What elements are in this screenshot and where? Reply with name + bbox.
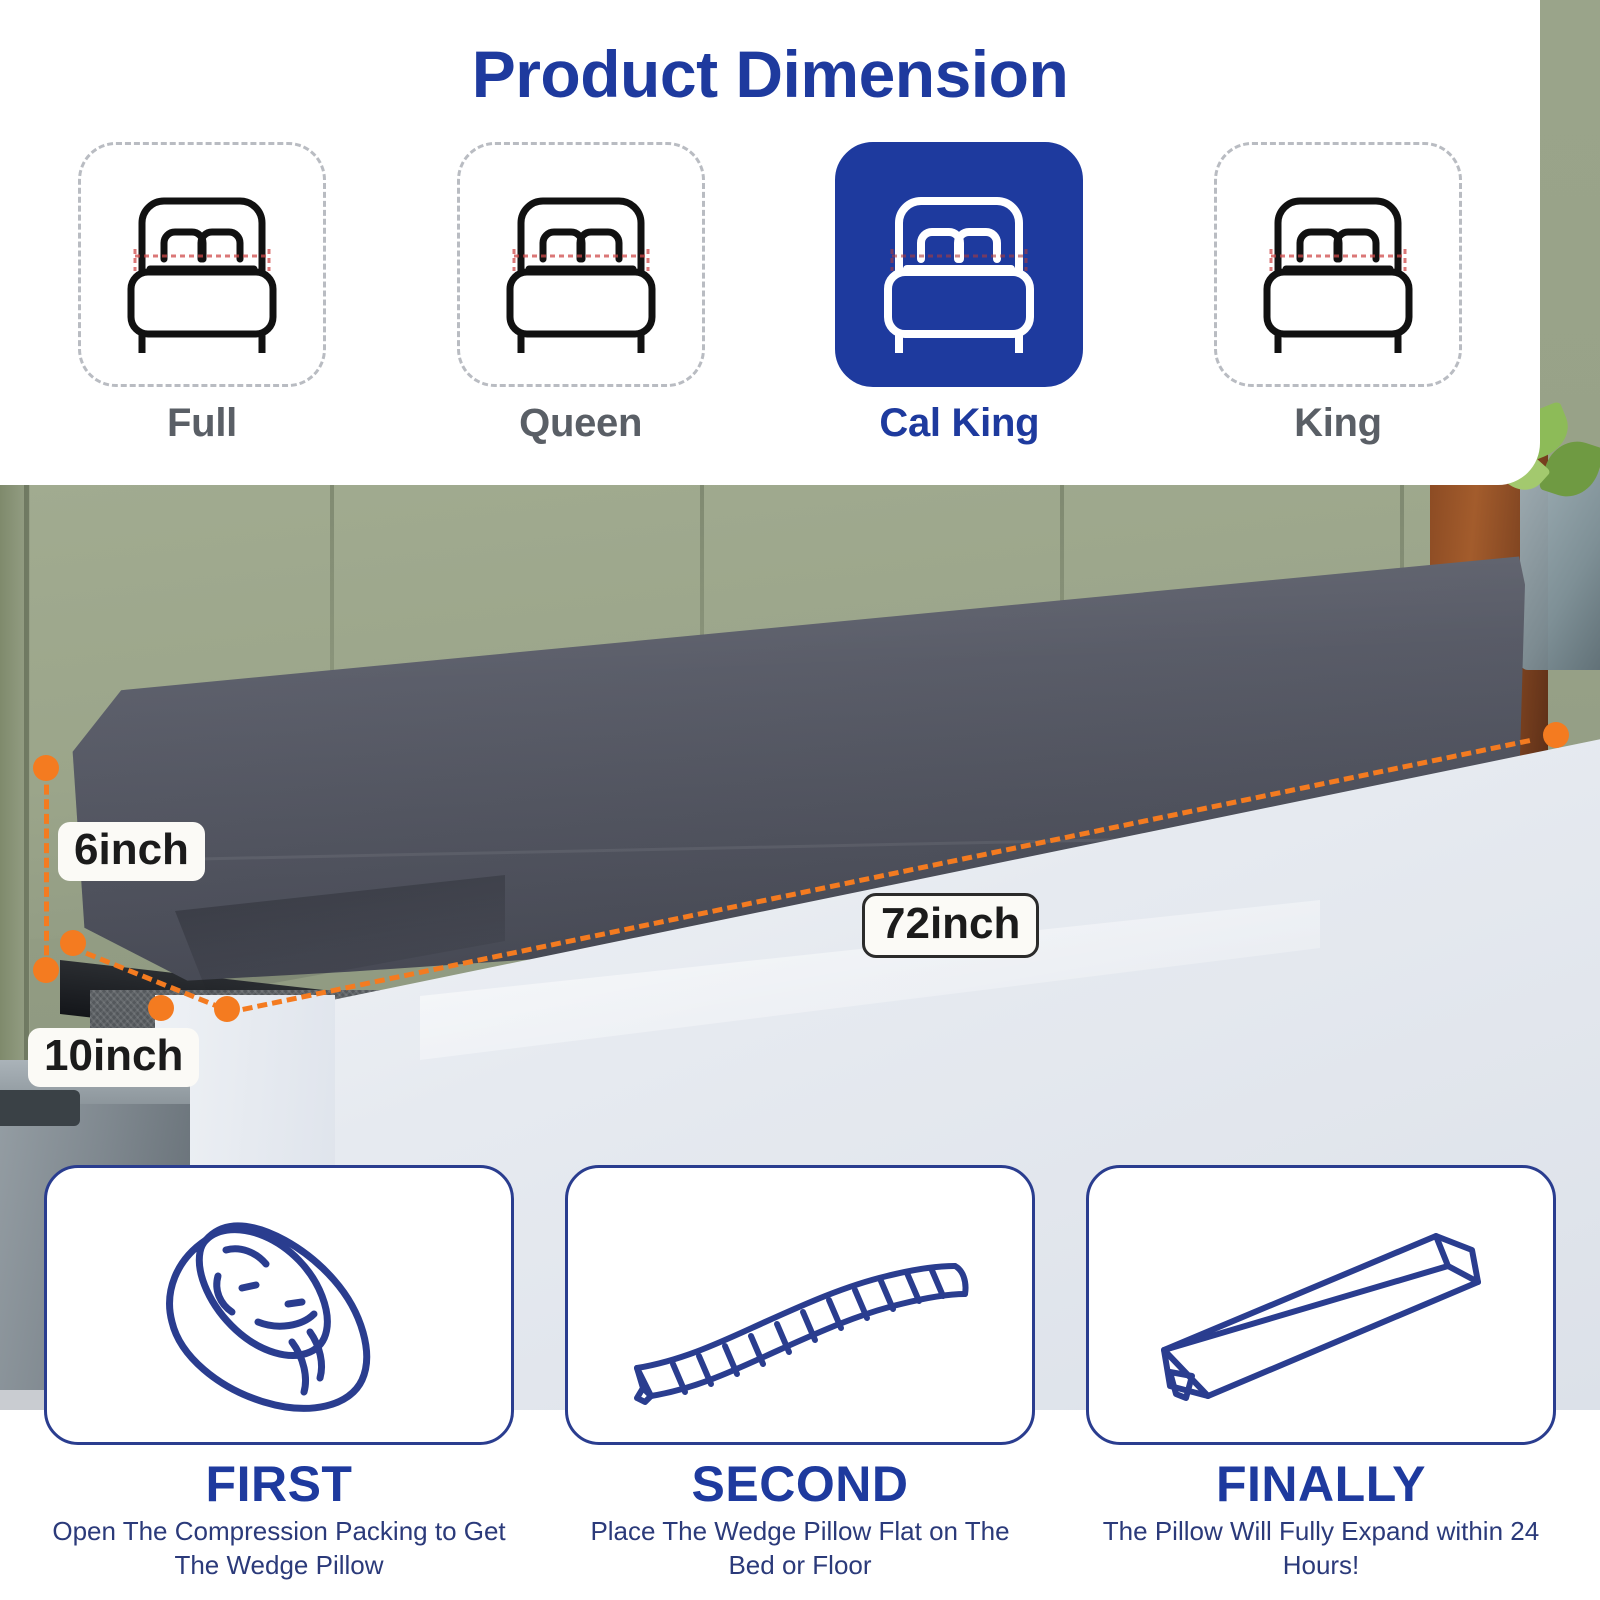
nightstand-drawer — [0, 1090, 80, 1126]
size-tile-cal-king[interactable] — [835, 142, 1083, 387]
bed-icon — [109, 177, 295, 353]
instruction-card-finally — [1086, 1165, 1556, 1445]
size-option-king[interactable]: King — [1188, 142, 1488, 446]
bed-icon — [1245, 177, 1431, 353]
flat-wedge-pillow-icon — [615, 1190, 985, 1420]
instruction-title-finally: FINALLY — [1086, 1455, 1556, 1513]
instruction-title-second: SECOND — [565, 1455, 1035, 1513]
instruction-desc-first: Open The Compression Packing to Get The … — [44, 1515, 514, 1582]
size-option-full[interactable]: Full — [52, 142, 352, 446]
size-tile-full[interactable] — [78, 142, 326, 387]
instruction-desc-second: Place The Wedge Pillow Flat on The Bed o… — [565, 1515, 1035, 1582]
length-dimension-endpoint — [1543, 722, 1569, 748]
size-label-king: King — [1188, 401, 1488, 446]
height-dimension-endpoint — [33, 957, 59, 983]
expanded-wedge-pillow-icon — [1136, 1190, 1506, 1420]
instruction-card-first — [44, 1165, 514, 1445]
bed-icon — [488, 177, 674, 353]
size-tile-king[interactable] — [1214, 142, 1462, 387]
size-label-queen: Queen — [431, 401, 731, 446]
size-label-cal-king: Cal King — [809, 401, 1109, 446]
instruction-title-first: FIRST — [44, 1455, 514, 1513]
instruction-step-finally: FINALLY The Pillow Will Fully Expand wit… — [1086, 1165, 1556, 1582]
plant-pot — [1520, 470, 1600, 670]
bed-icon — [866, 177, 1052, 353]
size-option-queen[interactable]: Queen — [431, 142, 731, 446]
depth-dimension-endpoint — [60, 930, 86, 956]
size-selector-panel: Product Dimension — [0, 0, 1540, 485]
height-dimension-badge: 6inch — [58, 822, 205, 881]
instruction-step-first: FIRST Open The Compression Packing to Ge… — [44, 1165, 514, 1582]
height-dimension-line — [44, 770, 49, 970]
instruction-step-second: SECOND Place The Wedge Pillow Flat on Th… — [565, 1165, 1035, 1582]
height-dimension-endpoint — [33, 755, 59, 781]
page-title: Product Dimension — [0, 0, 1540, 112]
instruction-card-second — [565, 1165, 1035, 1445]
size-option-cal-king[interactable]: Cal King — [809, 142, 1109, 446]
size-label-full: Full — [52, 401, 352, 446]
depth-dimension-endpoint — [148, 995, 174, 1021]
instructions-row: FIRST Open The Compression Packing to Ge… — [0, 1165, 1600, 1600]
length-dimension-endpoint — [214, 996, 240, 1022]
size-tile-queen[interactable] — [457, 142, 705, 387]
depth-dimension-badge: 10inch — [28, 1028, 199, 1087]
size-options-row: Full — [0, 112, 1540, 446]
length-dimension-badge: 72inch — [862, 893, 1039, 958]
instruction-desc-finally: The Pillow Will Fully Expand within 24 H… — [1086, 1515, 1556, 1582]
rolled-pillow-icon — [114, 1180, 444, 1430]
